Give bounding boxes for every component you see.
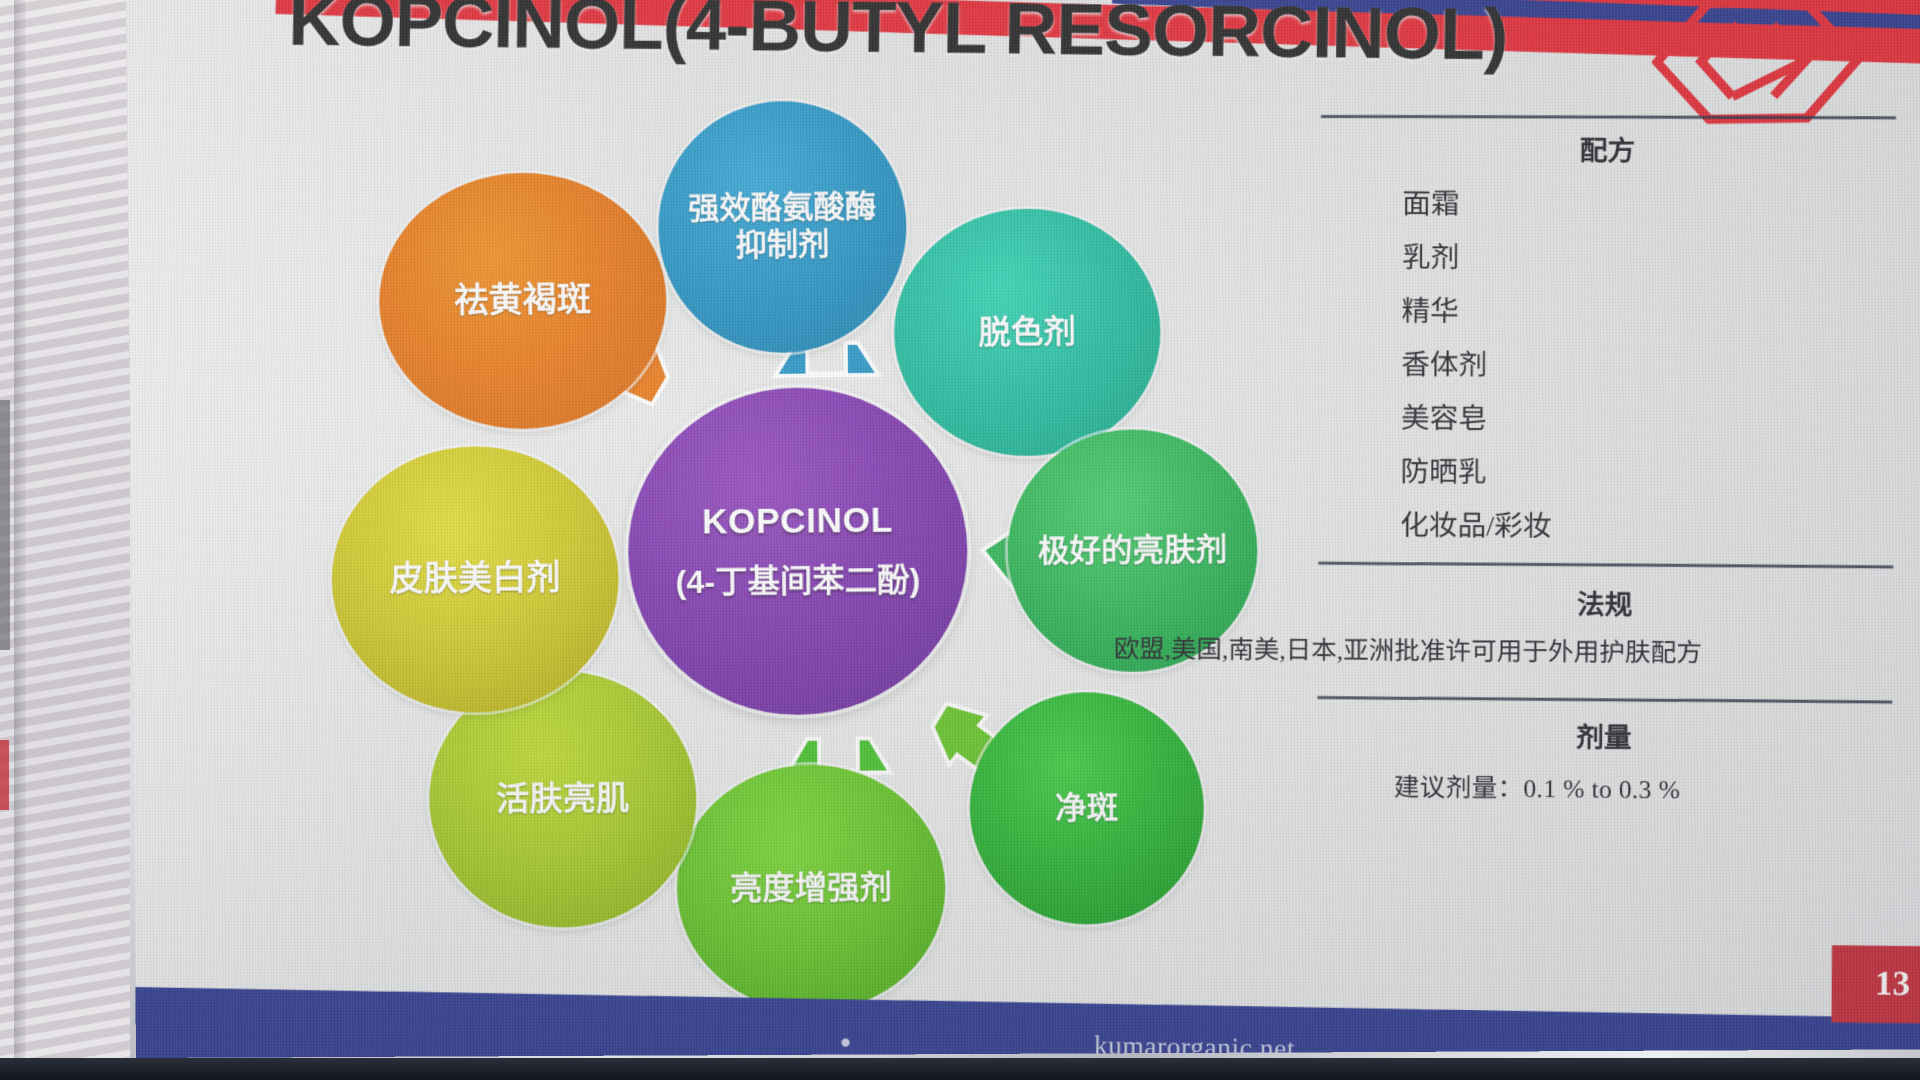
dosage-line: 建议剂量：0.1 % to 0.3 % [1184, 765, 1892, 807]
list-item: 美容皂 [1319, 396, 1894, 439]
divider-regulation-top [1318, 562, 1893, 569]
footer-website: kumarorganic.net [1094, 1030, 1295, 1058]
footer-bullet-icon: • [840, 1026, 851, 1058]
regulation-heading: 法规 [1318, 581, 1893, 624]
list-item: 防晒乳 [1319, 449, 1894, 493]
wall-red-marker [0, 740, 9, 810]
bubble-label: 脱色剂 [970, 313, 1084, 352]
bubble-label: 祛黄褐斑 [446, 280, 599, 322]
list-item: 香体剂 [1319, 342, 1894, 385]
regulation-body: 欧盟,美国,南美,日本,亚洲批准许可用于外用护肤配方 [1114, 633, 1893, 673]
bubble-bottom-right: 净斑 [969, 691, 1205, 925]
presentation-slide: KOPCINOL(4-BUTYL RESORCINOL) [126, 0, 1920, 1058]
room-wall-left [0, 0, 130, 1080]
hexagon-logo-icon [1651, 0, 1868, 128]
list-item: 乳剂 [1320, 235, 1895, 278]
formulation-heading: 配方 [1321, 128, 1896, 169]
page-number-badge: 13 [1832, 945, 1920, 1023]
dosage-value: 0.1 % to 0.3 % [1523, 775, 1680, 804]
center-bubble-kopcinol: KOPCINOL (4-丁基间苯二酚) [627, 386, 969, 716]
bubble-left: 皮肤美白剂 [331, 445, 620, 713]
info-panel: 配方 面霜 乳剂 精华 香体剂 美容皂 防晒乳 化妆品/彩妆 法规 欧盟,美国,… [1316, 115, 1896, 960]
bubble-label: 活肤亮肌 [488, 779, 637, 819]
projected-slide-photo: KOPCINOL(4-BUTYL RESORCINOL) [0, 0, 1920, 1080]
list-item: 面霜 [1320, 182, 1895, 224]
bubble-label-line1: 强效酪氨酸酶 [680, 189, 885, 228]
desk-edge [0, 1058, 1920, 1080]
list-item: 化妆品/彩妆 [1318, 503, 1893, 547]
formulation-list: 面霜 乳剂 精华 香体剂 美容皂 防晒乳 化妆品/彩妆 [1318, 182, 1895, 547]
dosage-label: 建议剂量： [1394, 774, 1524, 802]
bubble-bottom: 亮度增强剂 [676, 764, 947, 1012]
bubble-label: 亮度增强剂 [722, 869, 901, 908]
center-label-line1: KOPCINOL [702, 500, 893, 542]
kopcinol-benefit-diagram: 祛黄褐斑 强效酪氨酸酶 抑制剂 脱色剂 极好的亮肤剂 净斑 亮度增强剂 [317, 94, 1348, 1009]
bubble-label: 皮肤美白剂 [381, 558, 568, 600]
divider-formulation-top [1321, 115, 1896, 119]
center-label-line2: (4-丁基间苯二酚) [675, 554, 920, 603]
bubble-label-line2: 抑制剂 [680, 226, 885, 265]
wall-shadow [14, 0, 26, 1080]
divider-dosage-top [1317, 696, 1892, 703]
wall-rail [0, 400, 10, 650]
list-item: 精华 [1320, 289, 1895, 332]
bubble-label: 净斑 [1047, 790, 1127, 827]
bubble-label: 极好的亮肤剂 [1030, 531, 1236, 570]
dosage-heading: 剂量 [1317, 713, 1892, 757]
